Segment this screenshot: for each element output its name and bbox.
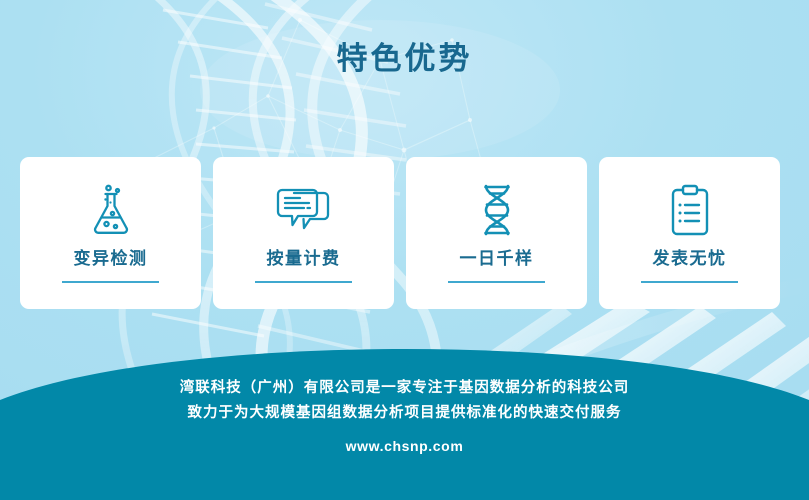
- feature-card-underline: [448, 281, 545, 283]
- footer-text-block: 湾联科技（广州）有限公司是一家专注于基因数据分析的科技公司 致力于为大规模基因组…: [0, 376, 809, 456]
- feature-card-underline: [255, 281, 352, 283]
- page-title: 特色优势: [337, 42, 473, 76]
- feature-card-underline: [62, 281, 159, 283]
- speech-bubbles-icon: [276, 183, 332, 239]
- feature-card-label: 变异检测: [74, 249, 148, 269]
- footer-website-url[interactable]: www.chsnp.com: [0, 436, 809, 456]
- feature-card-pay-per-use[interactable]: 按量计费: [213, 157, 394, 309]
- feature-card-label: 发表无忧: [653, 249, 727, 269]
- footer-banner: 湾联科技（广州）有限公司是一家专注于基因数据分析的科技公司 致力于为大规模基因组…: [0, 340, 809, 500]
- feature-card-thousand-samples-daily[interactable]: 一日千样: [406, 157, 587, 309]
- feature-card-label: 一日千样: [460, 249, 534, 269]
- feature-card-publication-support[interactable]: 发表无忧: [599, 157, 780, 309]
- feature-card-underline: [641, 281, 738, 283]
- page-title-container: 特色优势: [0, 42, 809, 76]
- flask-icon: [83, 183, 139, 239]
- footer-line-2: 致力于为大规模基因组数据分析项目提供标准化的快速交付服务: [0, 401, 809, 426]
- feature-card-label: 按量计费: [267, 249, 341, 269]
- dna-helix-icon: [469, 183, 525, 239]
- clipboard-checklist-icon: [662, 183, 718, 239]
- promo-banner: 特色优势: [0, 0, 809, 500]
- feature-card-variant-detection[interactable]: 变异检测: [20, 157, 201, 309]
- footer-line-1: 湾联科技（广州）有限公司是一家专注于基因数据分析的科技公司: [0, 376, 809, 401]
- feature-card-list: 变异检测 按量计费: [20, 157, 789, 309]
